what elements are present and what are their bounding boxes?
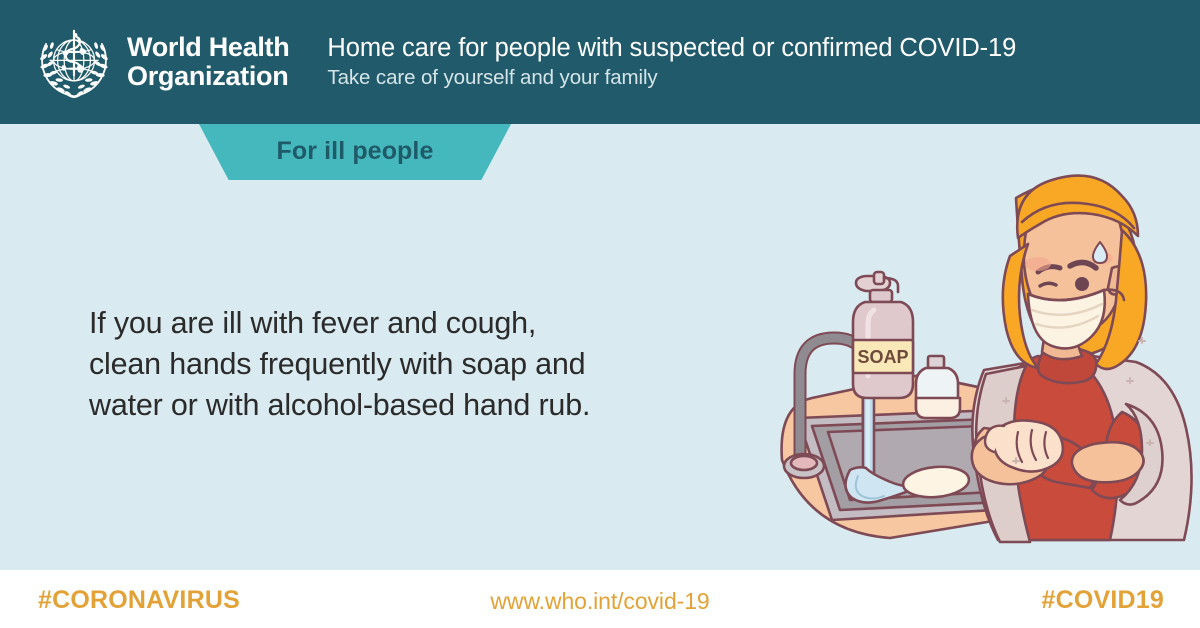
who-wordmark-line1: World Health — [127, 32, 289, 62]
who-wordmark: World Health Organization — [127, 33, 289, 91]
who-wordmark-line2: Organization — [127, 62, 289, 91]
handwashing-illustration: SOAP — [770, 160, 1200, 570]
eye-right — [1075, 277, 1089, 291]
main-message: If you are ill with fever and cough, cle… — [89, 303, 729, 426]
main-message-line-1: If you are ill with fever and cough, — [89, 303, 729, 344]
header-title: Home care for people with suspected or c… — [327, 32, 1016, 64]
footer-bar: #CORONAVIRUS www.who.int/covid-19 #COVID… — [0, 570, 1200, 628]
audience-banner-label: For ill people — [277, 137, 434, 168]
who-emblem-icon — [33, 21, 115, 103]
small-bottle — [916, 356, 960, 418]
blush-left — [1025, 257, 1051, 271]
main-message-line-2: clean hands frequently with soap and — [89, 344, 729, 385]
audience-banner-tag: For ill people — [199, 124, 511, 180]
poster-canvas: World Health Organization Home care for … — [0, 0, 1200, 628]
soap-label-text: SOAP — [857, 347, 908, 367]
footer-hashtag-covid19[interactable]: #COVID19 — [1042, 586, 1165, 615]
soap-dispenser: SOAP — [853, 272, 913, 398]
header-text-block: Home care for people with suspected or c… — [327, 32, 1016, 92]
main-message-line-3: water or with alcohol-based hand rub. — [89, 385, 729, 426]
header-bar: World Health Organization Home care for … — [0, 0, 1200, 124]
faucet-knob-inset — [791, 456, 817, 470]
forearm-right — [1072, 442, 1144, 482]
header-subtitle: Take care of yourself and your family — [327, 64, 1016, 92]
who-logo: World Health Organization — [33, 21, 289, 103]
footer-url[interactable]: www.who.int/covid-19 — [0, 588, 1200, 615]
